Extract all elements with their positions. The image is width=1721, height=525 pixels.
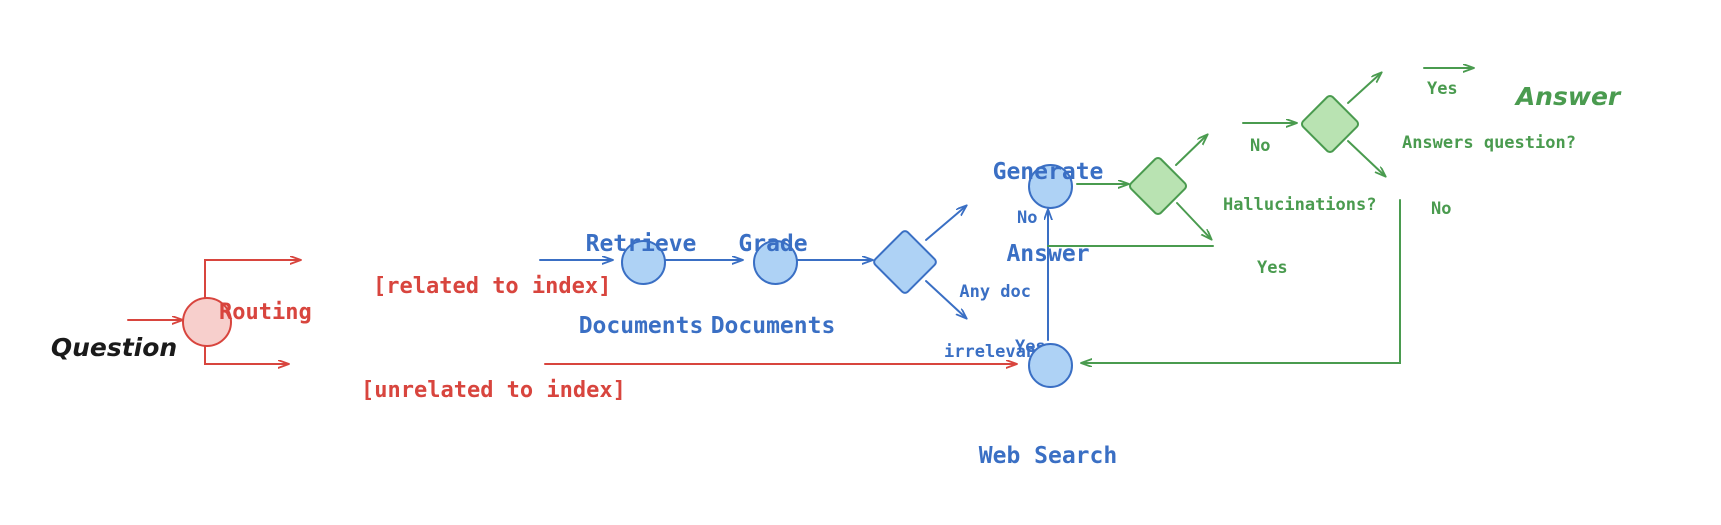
node-question-label: Question	[51, 333, 177, 362]
edge-label-answersq-no: No	[1390, 179, 1451, 239]
edge-label-halluc-no: No	[1209, 116, 1270, 176]
node-web-search-label: Web Search	[948, 443, 1148, 470]
node-routing-label-wrap: Routing	[166, 274, 312, 352]
node-answer[interactable]: Answer	[1481, 52, 1620, 141]
edge-label-halluc-yes-text: Yes	[1257, 258, 1288, 278]
node-grade-documents-label-wrap: Grade Documents	[673, 177, 873, 394]
node-grade-documents-label-line1: Grade	[673, 231, 873, 258]
node-routing-label: Routing	[219, 300, 312, 325]
edge-label-halluc-yes: Yes	[1216, 238, 1288, 298]
diagram-canvas: Question Routing [related to index] [unr…	[0, 0, 1721, 510]
edge-halluc-no	[1176, 135, 1207, 165]
node-web-search-label-wrap: Web Search	[948, 389, 1148, 525]
node-hallucinations-label: Hallucinations?	[1223, 195, 1377, 215]
node-answer-label: Answer	[1516, 82, 1620, 111]
node-generate-answer-label-line2: Answer	[948, 241, 1148, 268]
node-hallucinations-label-wrap: Hallucinations?	[1182, 175, 1376, 235]
edge-answersq-yes	[1348, 73, 1381, 103]
edge-label-halluc-no-text: No	[1250, 136, 1270, 156]
node-web-search[interactable]	[1028, 343, 1073, 388]
node-grade-documents-label-line2: Documents	[673, 313, 873, 340]
edge-label-answersq-no-text: No	[1431, 199, 1451, 219]
node-generate-answer-label-wrap: Generate Answer	[948, 105, 1148, 322]
node-question[interactable]: Question	[16, 303, 177, 392]
edge-label-answersq-yes: Yes	[1386, 59, 1458, 119]
edge-label-answersq-yes-text: Yes	[1427, 79, 1458, 99]
node-generate-answer-label-line1: Generate	[948, 159, 1148, 186]
